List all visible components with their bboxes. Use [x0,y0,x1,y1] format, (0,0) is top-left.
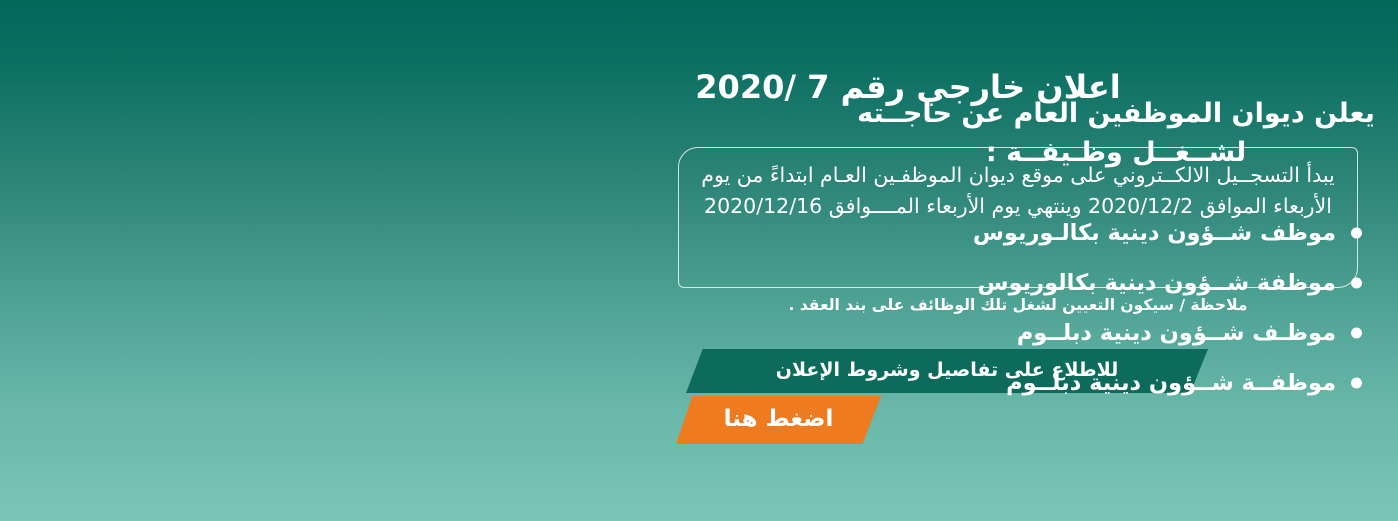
announcement-banner: اعلان خارجي رقم 7 /2020 يبدأ التسجــيل ا… [0,0,1398,521]
job-list: موظف شــؤون دينية بكالـوريوس موظفة شــؤو… [842,208,1398,408]
list-item: موظـف شــؤون دينية دبلــوم [842,308,1398,358]
job-title: موظـف شــؤون دينية دبلــوم [1017,322,1336,345]
job-title: موظفة شــؤون دينية بكالوريوس [978,272,1336,295]
list-item: موظفة شــؤون دينية بكالوريوس [842,258,1398,308]
bullet-icon [1351,378,1362,389]
job-title: موظف شــؤون دينية بكالـوريوس [973,222,1336,245]
bullet-icon [1351,328,1362,339]
click-here-button-label: اضغط هنا [724,406,834,434]
job-title: موظفــة شــؤون دينية دبلــوم [1006,372,1336,395]
bullet-icon [1351,228,1362,239]
vacancy-heading: يعلن ديوان الموظفين العام عن حاجــته لشـ… [846,94,1386,172]
right-column: يعلن ديوان الموظفين العام عن حاجــته لشـ… [830,0,1398,521]
list-item: موظف شــؤون دينية بكالـوريوس [842,208,1398,258]
bullet-icon [1351,278,1362,289]
list-item: موظفــة شــؤون دينية دبلــوم [842,358,1398,408]
